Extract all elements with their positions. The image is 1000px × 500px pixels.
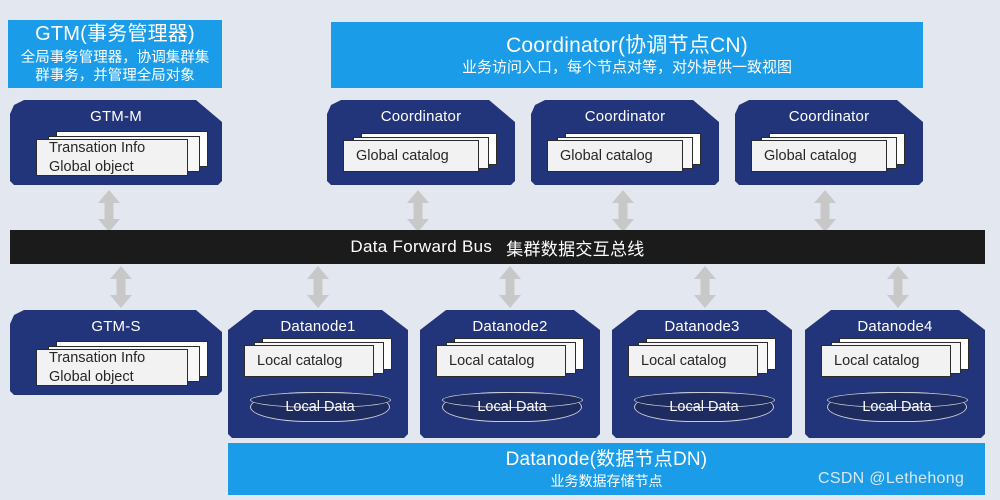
node-datanode-3[interactable]: Datanode3 Local catalog Local Data bbox=[612, 310, 792, 438]
local-data-label: Local Data bbox=[862, 399, 931, 415]
node-coordinator-2[interactable]: Coordinator Global catalog bbox=[531, 100, 719, 185]
banner-gtm: GTM(事务管理器) 全局事务管理器，协调集群集 群事务，并管理全局对象 bbox=[8, 20, 222, 88]
local-data-cylinder[interactable]: Local Data bbox=[442, 392, 582, 422]
banner-coordinator-title: Coordinator(协调节点CN) bbox=[506, 33, 748, 59]
local-data-cylinder[interactable]: Local Data bbox=[827, 392, 967, 422]
sheet-label: Local catalog bbox=[437, 352, 534, 370]
sheet-front[interactable]: Local catalog bbox=[821, 345, 951, 377]
arrow-up-down-bottom-1 bbox=[108, 266, 134, 308]
sheet-stack: Transation Info Global object bbox=[10, 100, 222, 185]
arrow-up-down-top-2 bbox=[405, 190, 431, 232]
node-gtm-m[interactable]: GTM-M Transation Info Global object bbox=[10, 100, 222, 185]
csdn-watermark: CSDN @Lethehong bbox=[818, 470, 964, 488]
arrow-up-down-top-4 bbox=[812, 190, 838, 232]
sheet-front[interactable]: Transation Info Global object bbox=[36, 349, 188, 386]
sheet-label: Global catalog bbox=[344, 147, 449, 165]
sheet-front[interactable]: Local catalog bbox=[244, 345, 374, 377]
arrow-up-down-bottom-5 bbox=[885, 266, 911, 308]
data-forward-bus: Data Forward Bus 集群数据交互总线 bbox=[10, 230, 985, 264]
sheet-label: Global catalog bbox=[548, 147, 653, 165]
node-datanode-2[interactable]: Datanode2 Local catalog Local Data bbox=[420, 310, 600, 438]
sheet-label: Transation Info Global object bbox=[37, 139, 145, 175]
sheet-label: Local catalog bbox=[245, 352, 342, 370]
arrow-up-down-bottom-3 bbox=[497, 266, 523, 308]
local-data-label: Local Data bbox=[669, 399, 738, 415]
arrow-up-down-bottom-2 bbox=[305, 266, 331, 308]
local-data-label: Local Data bbox=[477, 399, 546, 415]
node-datanode-4[interactable]: Datanode4 Local catalog Local Data bbox=[805, 310, 985, 438]
local-data-label: Local Data bbox=[285, 399, 354, 415]
bus-label-en: Data Forward Bus bbox=[350, 237, 492, 257]
sheet-label: Local catalog bbox=[822, 352, 919, 370]
sheet-front[interactable]: Local catalog bbox=[628, 345, 758, 377]
sheet-label: Local catalog bbox=[629, 352, 726, 370]
banner-coordinator-subtitle: 业务访问入口，每个节点对等，对外提供一致视图 bbox=[462, 59, 792, 77]
sheet-label: Transation Info Global object bbox=[37, 349, 145, 385]
banner-gtm-subtitle: 全局事务管理器，协调集群集 群事务，并管理全局对象 bbox=[21, 49, 210, 86]
sheet-label: Global catalog bbox=[752, 147, 857, 165]
arrow-up-down-top-1 bbox=[96, 190, 122, 232]
sheet-front[interactable]: Global catalog bbox=[751, 140, 887, 172]
banner-coordinator: Coordinator(协调节点CN) 业务访问入口，每个节点对等，对外提供一致… bbox=[331, 22, 923, 88]
banner-datanode-subtitle: 业务数据存储节点 bbox=[551, 473, 663, 490]
node-coordinator-3[interactable]: Coordinator Global catalog bbox=[735, 100, 923, 185]
bus-label-cn: 集群数据交互总线 bbox=[506, 235, 644, 260]
sheet-front[interactable]: Global catalog bbox=[343, 140, 479, 172]
local-data-cylinder[interactable]: Local Data bbox=[250, 392, 390, 422]
sheet-stack: Global catalog bbox=[735, 100, 923, 185]
banner-gtm-title: GTM(事务管理器) bbox=[35, 22, 195, 46]
node-datanode-1[interactable]: Datanode1 Local catalog Local Data bbox=[228, 310, 408, 438]
arrow-up-down-bottom-4 bbox=[692, 266, 718, 308]
local-data-cylinder[interactable]: Local Data bbox=[634, 392, 774, 422]
node-coordinator-1[interactable]: Coordinator Global catalog bbox=[327, 100, 515, 185]
sheet-stack: Transation Info Global object bbox=[10, 310, 222, 395]
sheet-stack: Global catalog bbox=[531, 100, 719, 185]
sheet-front[interactable]: Local catalog bbox=[436, 345, 566, 377]
sheet-front[interactable]: Global catalog bbox=[547, 140, 683, 172]
node-gtm-s[interactable]: GTM-S Transation Info Global object bbox=[10, 310, 222, 395]
diagram-canvas: GTM(事务管理器) 全局事务管理器，协调集群集 群事务，并管理全局对象 Coo… bbox=[0, 0, 1000, 500]
arrow-up-down-top-3 bbox=[610, 190, 636, 232]
banner-datanode-title: Datanode(数据节点DN) bbox=[506, 448, 708, 471]
sheet-front[interactable]: Transation Info Global object bbox=[36, 139, 188, 176]
sheet-stack: Global catalog bbox=[327, 100, 515, 185]
